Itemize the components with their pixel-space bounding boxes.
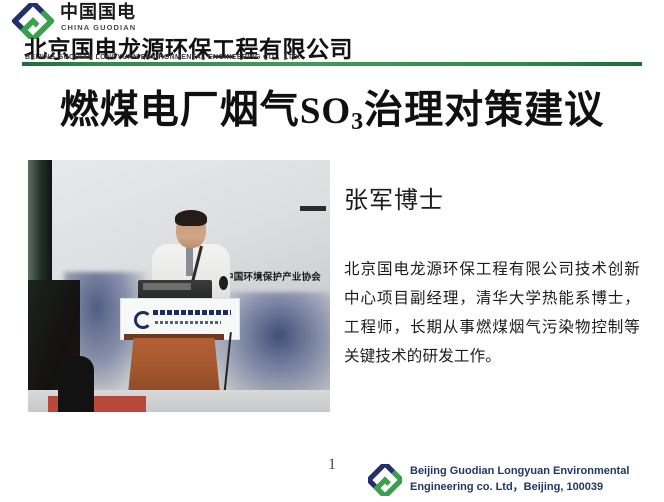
photo-foreground-person — [58, 356, 94, 412]
photo-banner-text-line2 — [155, 321, 221, 324]
photo-microphone-head — [219, 276, 228, 290]
footer-line-2: Engineering co. Ltd，Beijing, 100039 — [410, 480, 660, 496]
photo-laptop-screen — [143, 283, 191, 290]
title-part-1: 燃煤电厂烟气 — [60, 88, 300, 133]
photo-backdrop-caption: 中国环境保护产业协会 — [224, 269, 321, 283]
page-title: 燃煤电厂烟气SO3治理对策建议 — [0, 79, 664, 136]
slide-canvas: 中国国电 CHINA GUODIAN 北京国电龙源环保工程有限公司 BEIJIN… — [0, 0, 664, 502]
title-chem-main: SO — [300, 91, 351, 132]
speaker-photo: 中国环境保护产业协会 — [28, 160, 330, 412]
header-divider-bar — [22, 62, 642, 66]
slide-header: 中国国电 CHINA GUODIAN 北京国电龙源环保工程有限公司 BEIJIN… — [0, 0, 664, 62]
brand-name-cn: 中国国电 — [60, 3, 136, 22]
photo-projection-screen-edge — [28, 160, 52, 282]
title-chem-subscript: 3 — [351, 109, 364, 135]
photo-wall-stripe — [300, 206, 326, 211]
title-part-2: 治理对策建议 — [364, 88, 604, 133]
footer-guodian-diamond-g-logo-icon — [368, 464, 402, 496]
footer-company-address: Beijing Guodian Longyuan Environmental E… — [410, 464, 660, 495]
photo-speaker-tie — [186, 246, 193, 276]
speaker-biography: 北京国电龙源环保工程有限公司技术创新中心项目副经理，清华大学热能系博士，工程师，… — [344, 255, 640, 371]
title-chemical-formula: SO3 — [300, 91, 364, 132]
photo-podium — [128, 338, 220, 394]
page-number: 1 — [320, 456, 344, 474]
photo-banner-text-line1 — [153, 310, 231, 315]
speaker-name: 张军博士 — [344, 180, 444, 215]
photo-banner-logo-icon — [134, 311, 152, 329]
photo-speaker-hair — [175, 210, 207, 226]
footer-line-1: Beijing Guodian Longyuan Environmental — [410, 464, 660, 480]
company-name-en: BEIJING GUODIAN LONGYUAN ENVIRONMENTAL E… — [25, 52, 300, 62]
